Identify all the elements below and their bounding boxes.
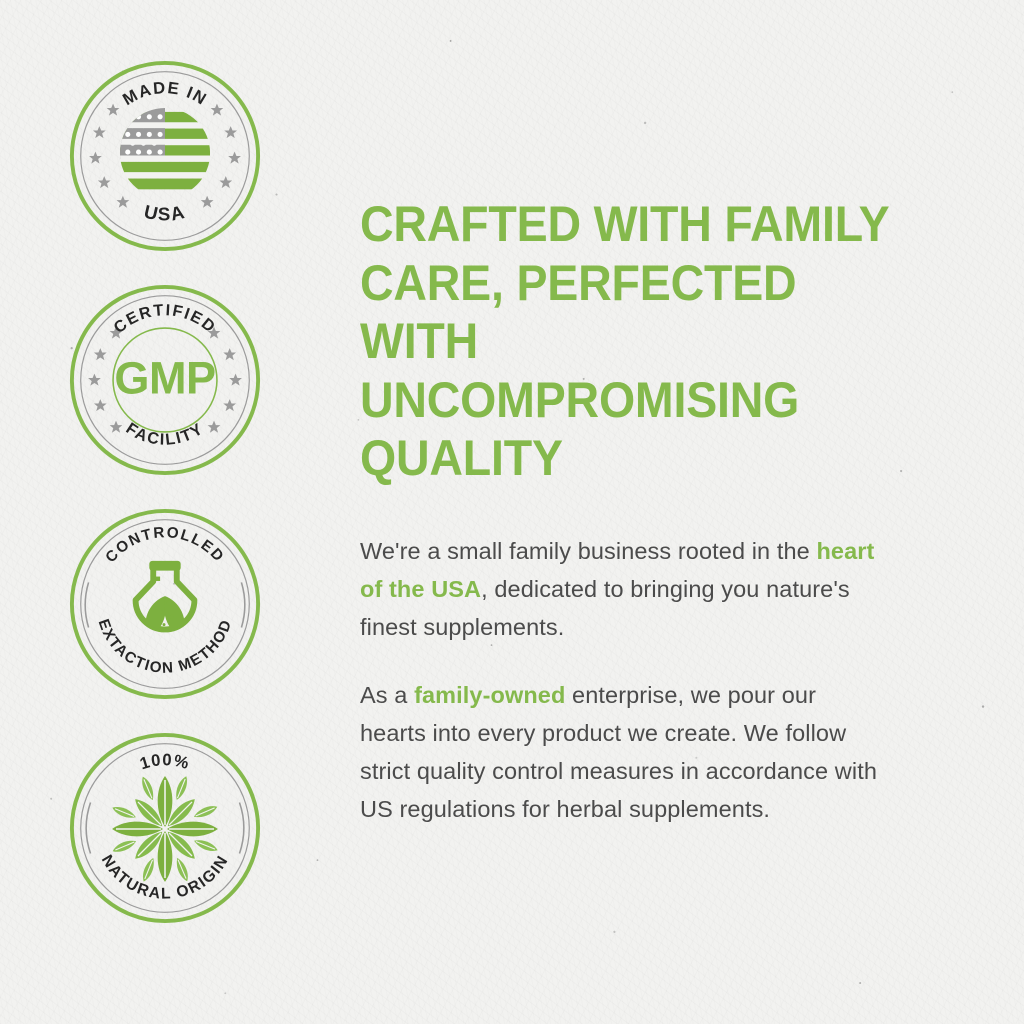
left-accent-arc (86, 803, 90, 854)
right-accent-arc (239, 803, 243, 854)
body-paragraph-1: We're a small family business rooted in … (360, 532, 880, 646)
badge-top-label: CONTROLLED (102, 524, 227, 566)
badge-top-label: 100% (138, 750, 192, 773)
right-accent-arc (241, 582, 244, 627)
usa-flag-icon (116, 108, 214, 189)
badge-made-in-usa: MADE IN USA (67, 58, 263, 254)
badge-bottom-label: FACILITY (123, 419, 208, 449)
page-title: CRAFTED WITH FAMILY CARE, PERFECTED WITH… (360, 195, 894, 488)
badge-top-label: CERTIFIED (110, 301, 219, 337)
badge-controlled-extaction-method: CONTROLLED EXTACTION METHOD (67, 506, 263, 702)
badge-top-label: MADE IN (119, 78, 211, 109)
text-content-column: CRAFTED WITH FAMILY CARE, PERFECTED WITH… (330, 0, 1024, 828)
left-accent-arc (85, 582, 88, 627)
flask-leaf-icon (136, 561, 195, 635)
badge-bottom-label: USA (142, 201, 188, 225)
badge-natural-origin: 100% NATURAL ORIGIN (67, 730, 263, 926)
trust-badge-column: MADE IN USA (0, 0, 330, 926)
body-paragraph-2: As a family-owned enterprise, we pour ou… (360, 676, 880, 828)
gmp-text-icon: GMP (114, 353, 215, 404)
paragraph-1-part-1: We're a small family business rooted in … (360, 538, 816, 564)
badge-bottom-label: EXTACTION METHOD (95, 617, 236, 677)
badge-gmp-certified-facility: GMP CERTIFIED FACILITY (67, 282, 263, 478)
paragraph-2-highlight: family-owned (414, 682, 565, 708)
paragraph-2-part-1: As a (360, 682, 414, 708)
promo-panel: MADE IN USA (0, 0, 1024, 1024)
leaf-rosette-icon (111, 775, 219, 883)
